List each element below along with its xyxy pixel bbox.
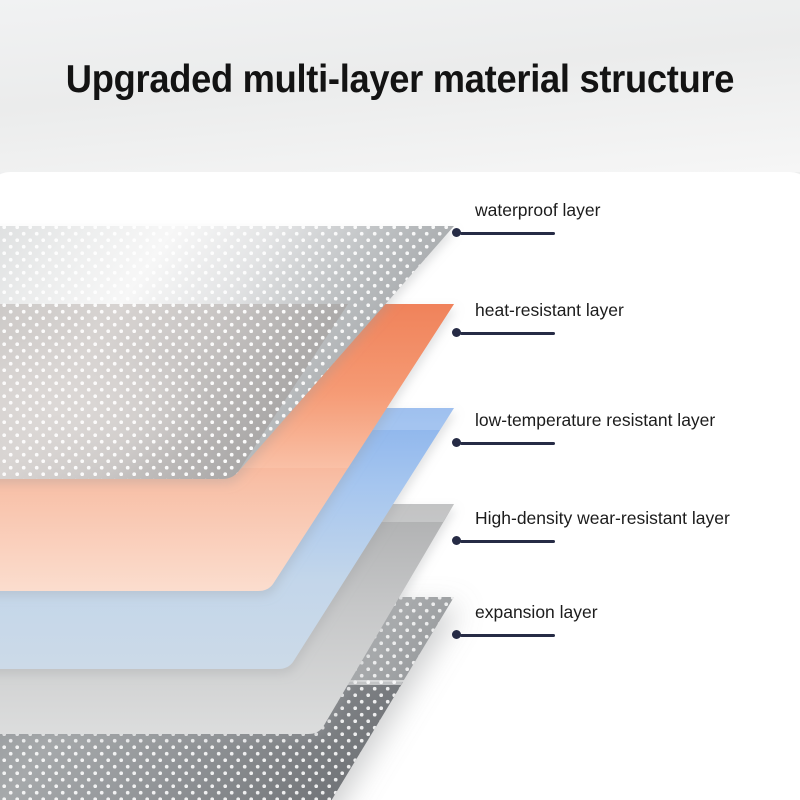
page-header: Upgraded multi-layer material structure: [0, 0, 800, 172]
callout-group: waterproof layer heat-resistant layer lo…: [0, 172, 800, 800]
page-title: Upgraded multi-layer material structure: [28, 58, 772, 102]
leader-dot-high-density-wear-resistant: [452, 536, 461, 545]
leader-dot-expansion: [452, 630, 461, 639]
diagram-card: waterproof layer heat-resistant layer lo…: [0, 172, 800, 800]
leader-line-waterproof: [460, 232, 555, 235]
leader-line-high-density-wear-resistant: [460, 540, 555, 543]
leader-dot-low-temperature-resistant: [452, 438, 461, 447]
leader-line-heat-resistant: [460, 332, 555, 335]
diagram-page: Upgraded multi-layer material structure: [0, 0, 800, 800]
leader-dot-waterproof: [452, 228, 461, 237]
callout-label-expansion: expansion layer: [475, 604, 598, 622]
callout-label-high-density-wear-resistant: High-density wear-resistant layer: [475, 510, 730, 528]
callout-label-heat-resistant: heat-resistant layer: [475, 302, 624, 320]
callout-label-low-temperature-resistant: low-temperature resistant layer: [475, 412, 715, 430]
callout-label-waterproof: waterproof layer: [475, 202, 600, 220]
leader-line-low-temperature-resistant: [460, 442, 555, 445]
leader-line-expansion: [460, 634, 555, 637]
leader-dot-heat-resistant: [452, 328, 461, 337]
